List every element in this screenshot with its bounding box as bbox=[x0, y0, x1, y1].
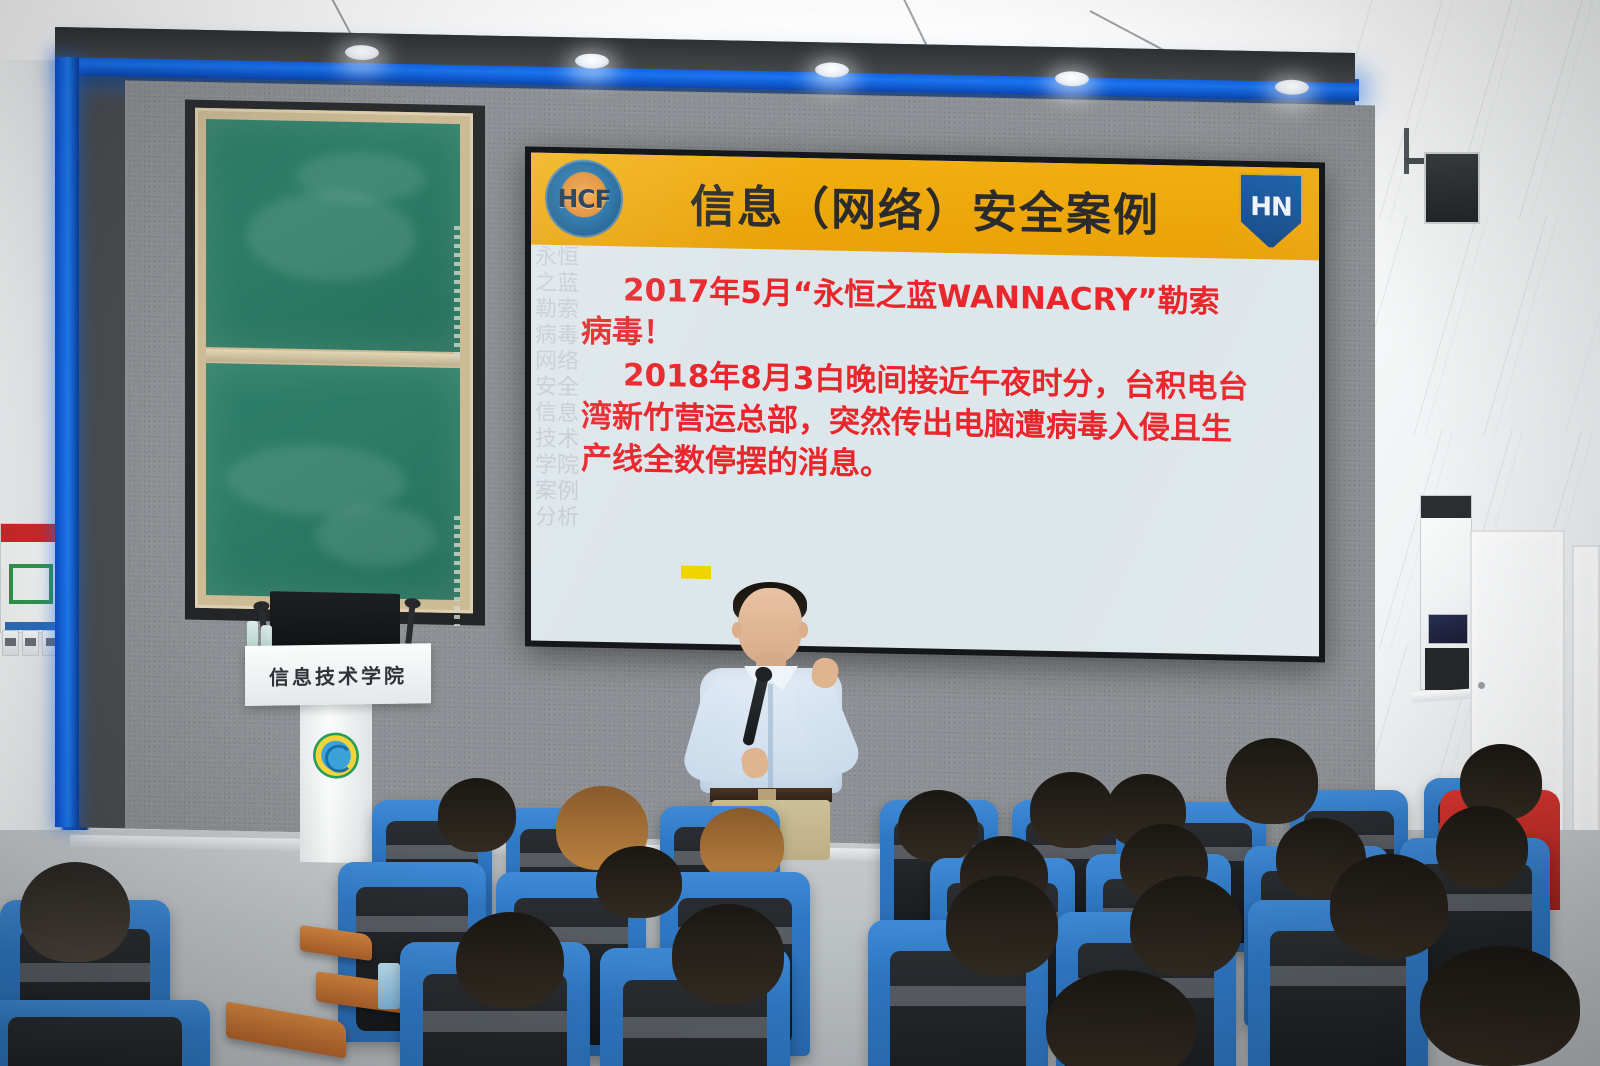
drink-can bbox=[378, 963, 400, 1009]
audience-head bbox=[1226, 738, 1318, 824]
audience-head bbox=[946, 876, 1058, 976]
audience-head bbox=[898, 790, 978, 862]
audience-area bbox=[0, 0, 1600, 1066]
audience-head bbox=[1436, 806, 1528, 888]
audience-head bbox=[1330, 854, 1448, 958]
audience-head bbox=[1130, 876, 1242, 976]
seat-armrest bbox=[226, 1001, 346, 1058]
audience-head bbox=[20, 862, 130, 962]
audience-head bbox=[596, 846, 682, 918]
audience-head bbox=[700, 808, 784, 882]
seat[interactable] bbox=[0, 1000, 210, 1066]
audience-head bbox=[456, 912, 564, 1008]
audience-head bbox=[1030, 772, 1114, 848]
lecture-hall-photo: HCF 信息（网络）安全案例 HN 永恒之蓝勒索病毒网络安全信息技术学院案例分析… bbox=[0, 0, 1600, 1066]
audience-head bbox=[438, 778, 516, 852]
audience-head bbox=[672, 904, 784, 1004]
audience-head bbox=[1420, 946, 1580, 1066]
